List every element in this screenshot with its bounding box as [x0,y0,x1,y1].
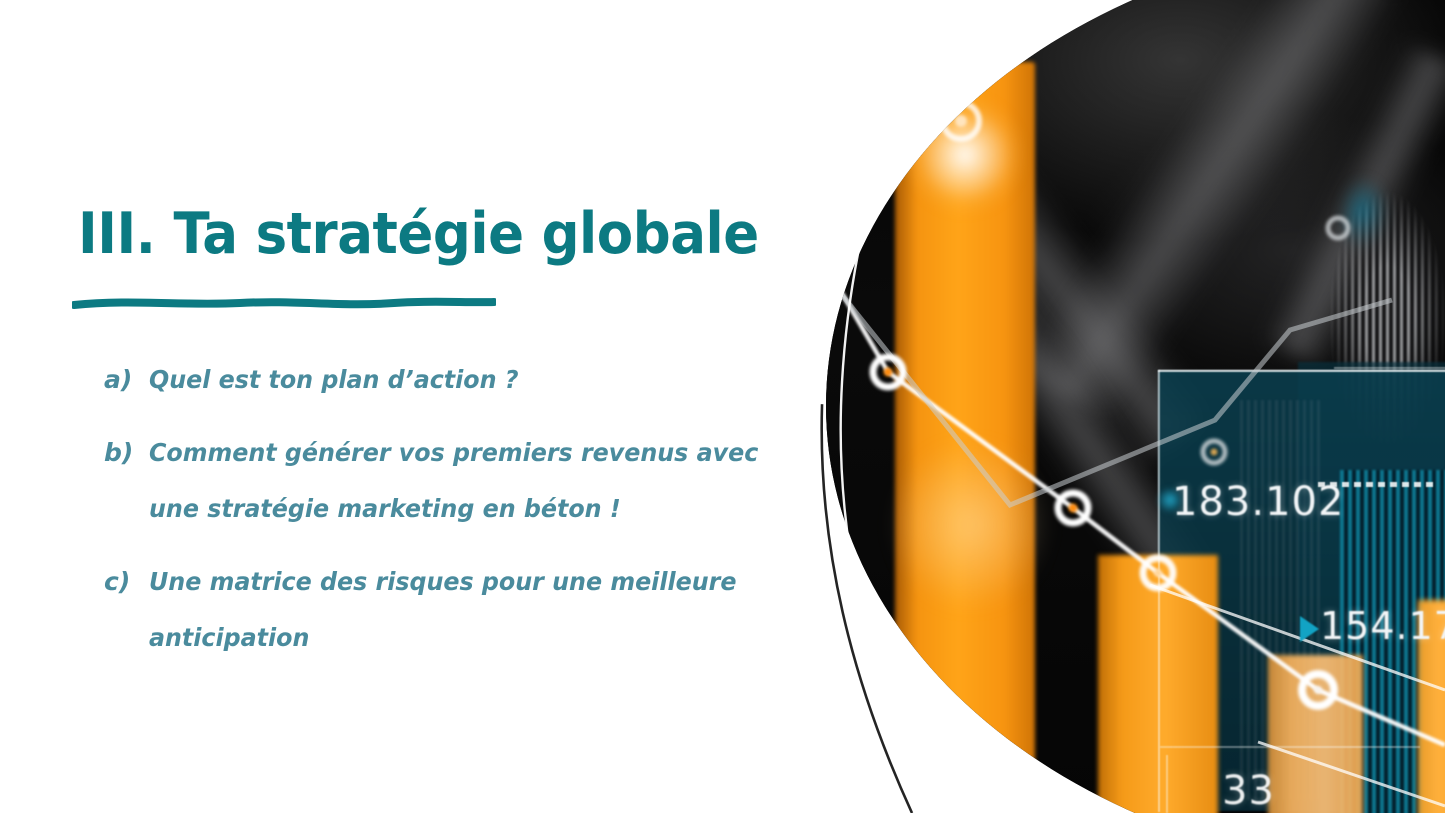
text-column: III. Ta stratégie globale a) Quel est to… [0,0,830,813]
slide: 183.102 154.17 33 III. Ta stratégie glob… [0,0,1445,813]
list-item-label: Une matrice des risques pour une meilleu… [149,554,781,666]
list-item-marker: c) [104,554,149,610]
list-item-marker: b) [104,425,149,481]
list-item: b) Comment générer vos premiers revenus … [104,425,814,537]
list-item: a) Quel est ton plan d’action ? [104,352,814,408]
readout-183: 183.102 [1172,479,1344,525]
readout-154: 154.17 [1320,604,1445,648]
list-item: c) Une matrice des risques pour une meil… [104,554,814,666]
play-triangle-icon [1300,616,1319,642]
trend-marker-group [873,103,1348,706]
list-item-marker: a) [104,352,149,408]
list-item-label: Comment générer vos premiers revenus ave… [149,425,781,537]
page-title: III. Ta stratégie globale [78,199,759,269]
list-item-label: Quel est ton plan d’action ? [149,352,781,408]
wavy-underline-icon [72,292,496,314]
readout-bottom: 33 [1222,768,1275,813]
bullet-list: a) Quel est ton plan d’action ? b) Comme… [104,352,814,683]
